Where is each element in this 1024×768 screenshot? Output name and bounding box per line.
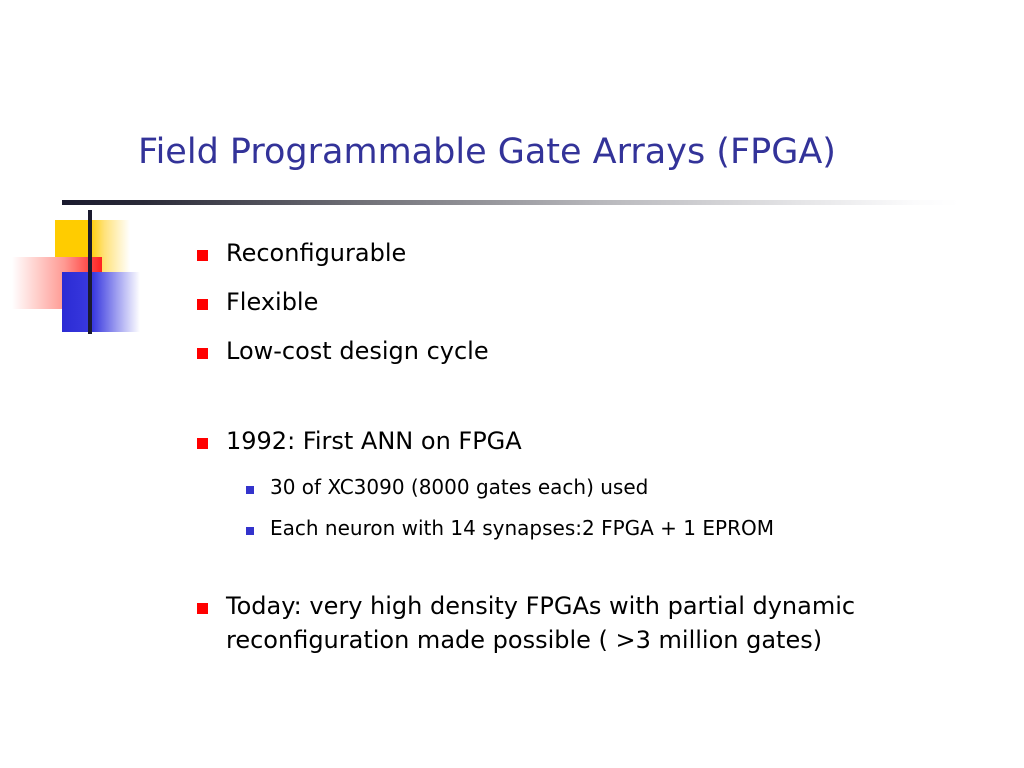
list-item-label: 30 of XC3090 (8000 gates each) used (270, 473, 648, 502)
list-item-label: Low-cost design cycle (226, 334, 489, 368)
sub-bullet-square-icon (246, 486, 254, 494)
list-item: 30 of XC3090 (8000 gates each) used (0, 473, 1024, 514)
title-horizontal-rule (62, 200, 960, 205)
bullet-square-icon (197, 348, 208, 359)
list-item-label: Reconfigurable (226, 236, 406, 270)
list-spacer (0, 555, 1024, 589)
list-item: Flexible (0, 285, 1024, 334)
list-item: Today: very high density FPGAs with part… (0, 589, 1024, 657)
bullet-square-icon (197, 250, 208, 261)
list-spacer (0, 383, 1024, 424)
list-item-label: Each neuron with 14 synapses:2 FPGA + 1 … (270, 514, 774, 543)
bullet-square-icon (197, 299, 208, 310)
list-item: Low-cost design cycle (0, 334, 1024, 383)
list-item-label: 1992: First ANN on FPGA (226, 424, 522, 458)
list-item: 1992: First ANN on FPGA (0, 424, 1024, 473)
list-item-label: Flexible (226, 285, 318, 319)
bullet-square-icon (197, 438, 208, 449)
bullet-square-icon (197, 603, 208, 614)
slide-body: Reconfigurable Flexible Low-cost design … (0, 236, 1024, 657)
list-item: Each neuron with 14 synapses:2 FPGA + 1 … (0, 514, 1024, 555)
list-item-label: Today: very high density FPGAs with part… (226, 589, 898, 657)
page-title: Field Programmable Gate Arrays (FPGA) (138, 131, 998, 173)
list-item: Reconfigurable (0, 236, 1024, 285)
sub-bullet-square-icon (246, 527, 254, 535)
presentation-slide: Field Programmable Gate Arrays (FPGA) Re… (0, 0, 1024, 768)
